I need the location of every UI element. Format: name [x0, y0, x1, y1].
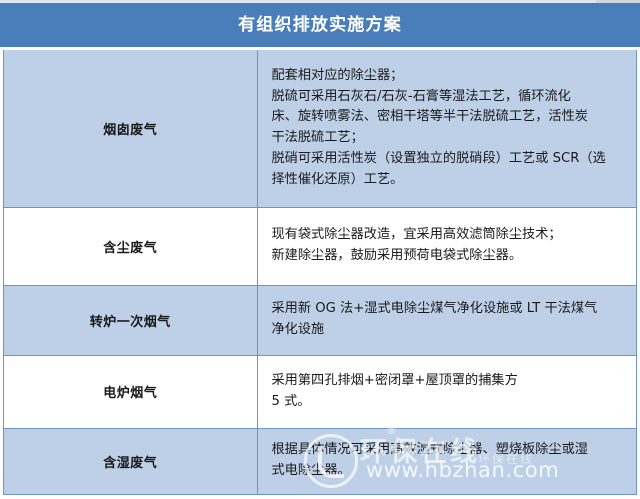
description-line: 床、旋转喷雾法、密相干塔等半干法脱硫工艺，活性炭	[272, 107, 625, 128]
table-figure: 有组织排放实施方案 烟囱废气 配套相对应的除尘器； 脱硫可采用石灰石/石灰-石膏…	[0, 0, 640, 499]
page-title: 有组织排放实施方案	[238, 17, 402, 34]
description-line: 净化设施	[272, 320, 625, 341]
description-line: 5 式。	[272, 392, 625, 413]
row-description: 根据具体情况可采用高效湿式除尘器、塑烧板除尘或湿 式电除尘器。	[257, 428, 636, 494]
row-description: 采用新 OG 法+湿式电除尘煤气净化设施或 LT 干法煤气 净化设施	[257, 285, 636, 355]
description-line: 采用第四孔排烟+密闭罩+屋顶罩的捕集方	[272, 371, 625, 392]
row-category-label: 含尘废气	[4, 207, 257, 285]
description-line: 干法脱硫工艺；	[272, 128, 625, 149]
row-description: 采用第四孔排烟+密闭罩+屋顶罩的捕集方 5 式。	[257, 355, 636, 428]
data-table: 烟囱废气 配套相对应的除尘器； 脱硫可采用石灰石/石灰-石膏等湿法工艺，循环流化…	[3, 50, 637, 495]
table-row: 含湿废气 根据具体情况可采用高效湿式除尘器、塑烧板除尘或湿 式电除尘器。	[4, 428, 636, 494]
description-line: 配套相对应的除尘器；	[272, 66, 625, 87]
row-category-label: 电炉烟气	[4, 355, 257, 428]
description-line: 式电除尘器。	[272, 461, 625, 482]
row-description: 配套相对应的除尘器； 脱硫可采用石灰石/石灰-石膏等湿法工艺，循环流化 床、旋转…	[257, 50, 636, 207]
row-category-label: 含湿废气	[4, 428, 257, 494]
description-line: 新建除尘器，鼓励采用预荷电袋式除尘器。	[272, 246, 625, 267]
description-line: 根据具体情况可采用高效湿式除尘器、塑烧板除尘或湿	[272, 440, 625, 461]
row-description: 现有袋式除尘器改造，宜采用高效滤筒除尘技术； 新建除尘器，鼓励采用预荷电袋式除尘…	[257, 207, 636, 285]
row-category-label: 转炉一次烟气	[4, 285, 257, 355]
description-line: 脱硝可采用活性炭（设置独立的脱硝段）工艺或 SCR（选	[272, 149, 625, 170]
table-row: 含尘废气 现有袋式除尘器改造，宜采用高效滤筒除尘技术； 新建除尘器，鼓励采用预荷…	[4, 207, 636, 285]
row-category-label: 烟囱废气	[4, 50, 257, 207]
description-line: 采用新 OG 法+湿式电除尘煤气净化设施或 LT 干法煤气	[272, 299, 625, 320]
table-row: 烟囱废气 配套相对应的除尘器； 脱硫可采用石灰石/石灰-石膏等湿法工艺，循环流化…	[4, 50, 636, 207]
table-row: 转炉一次烟气 采用新 OG 法+湿式电除尘煤气净化设施或 LT 干法煤气 净化设…	[4, 285, 636, 355]
description-line: 择性催化还原）工艺。	[272, 170, 625, 191]
description-line: 脱硫可采用石灰石/石灰-石膏等湿法工艺，循环流化	[272, 87, 625, 108]
description-line: 现有袋式除尘器改造，宜采用高效滤筒除尘技术；	[272, 225, 625, 246]
table-row: 电炉烟气 采用第四孔排烟+密闭罩+屋顶罩的捕集方 5 式。	[4, 355, 636, 428]
figure-title-bar: 有组织排放实施方案	[0, 3, 640, 47]
table-grid: 烟囱废气 配套相对应的除尘器； 脱硫可采用石灰石/石灰-石膏等湿法工艺，循环流化…	[4, 50, 636, 494]
